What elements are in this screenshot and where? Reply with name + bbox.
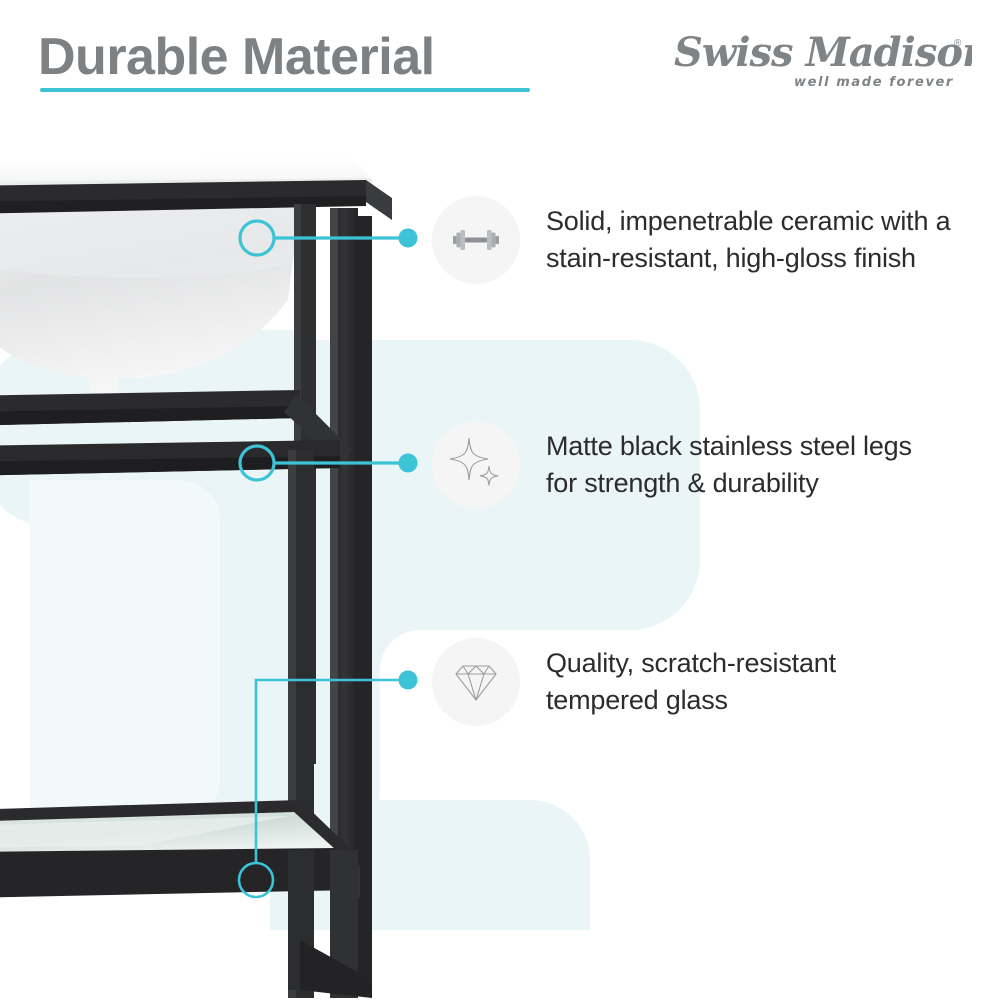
sparkle-icon xyxy=(447,436,505,494)
feature-text-2: Quality, scratch-resistant tempered glas… xyxy=(546,645,836,719)
feature-icon-container-0 xyxy=(432,196,520,284)
feature-row-ceramic: Solid, impenetrable ceramic with a stain… xyxy=(432,196,950,284)
callout-line-1 xyxy=(240,446,418,480)
dumbbell-icon xyxy=(448,212,504,268)
callout-dot-2 xyxy=(399,671,418,690)
callout-dot-1 xyxy=(399,454,418,473)
diamond-icon xyxy=(450,656,502,708)
callout-dot-0 xyxy=(399,229,418,248)
feature-row-legs: Matte black stainless steel legs for str… xyxy=(432,421,912,509)
callout-line-2 xyxy=(239,671,418,898)
callout-line-0 xyxy=(240,221,418,255)
infographic-canvas: Durable Material Swiss Madison ® well ma… xyxy=(0,0,1000,1000)
feature-text-0: Solid, impenetrable ceramic with a stain… xyxy=(546,203,950,277)
feature-text-1: Matte black stainless steel legs for str… xyxy=(546,428,912,502)
feature-row-glass: Quality, scratch-resistant tempered glas… xyxy=(432,638,836,726)
feature-icon-container-1 xyxy=(432,421,520,509)
feature-icon-container-2 xyxy=(432,638,520,726)
